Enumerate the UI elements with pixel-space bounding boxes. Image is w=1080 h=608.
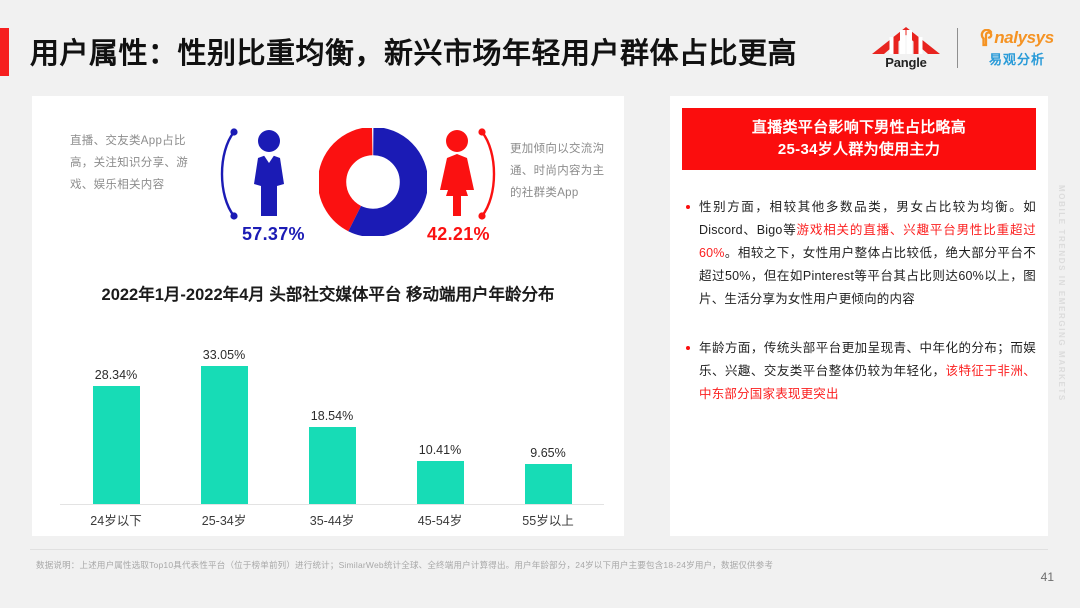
donut-female-slice bbox=[332, 141, 414, 223]
insight-bullet-text: 年龄方面，传统头部平台更加呈现青、中年化的分布；而娱乐、兴趣、交友类平台整体仍较… bbox=[699, 337, 1036, 406]
insight-bullet-list: 性别方面，相较其他多数品类，男女占比较为均衡。如Discord、Bigo等游戏相… bbox=[684, 196, 1036, 432]
bar-category-label: 24岁以下 bbox=[64, 510, 168, 529]
bar-category-label: 25-34岁 bbox=[172, 510, 276, 529]
female-percentage: 42.21% bbox=[427, 224, 490, 245]
plain-phrase: 。相较之下，女性用户整体占比较低，绝大部分平台不超过50%，但在如Pintere… bbox=[699, 246, 1036, 306]
insight-header-banner: 直播类平台影响下男性占比略高 25-34岁人群为使用主力 bbox=[682, 108, 1036, 170]
bar-value-label: 9.65% bbox=[530, 446, 565, 460]
left-content-card: 直播、交友类App占比高，关注知识分享、游戏、娱乐相关内容 bbox=[32, 96, 624, 536]
logo-group: Pangle nalysys 易观分析 bbox=[869, 26, 1062, 70]
insight-bullet-text: 性别方面，相较其他多数品类，男女占比较为均衡。如Discord、Bigo等游戏相… bbox=[699, 196, 1036, 311]
bar-chart-category-labels: 24岁以下25-34岁35-44岁45-54岁55岁以上 bbox=[62, 510, 602, 529]
logo-divider bbox=[957, 28, 958, 68]
analysys-logo: nalysys 易观分析 bbox=[972, 28, 1062, 68]
male-person-icon bbox=[246, 128, 292, 218]
bar-category-label: 45-54岁 bbox=[388, 510, 492, 529]
bar-value-label: 28.34% bbox=[95, 368, 137, 382]
gender-split-figure: 直播、交友类App占比高，关注知识分享、游戏、娱乐相关内容 bbox=[32, 96, 624, 266]
slide-header: 用户属性：性别比重均衡，新兴市场年轻用户群体占比更高 Pangle bbox=[0, 22, 1080, 82]
bar-chart-title: 2022年1月-2022年4月 头部社交媒体平台 移动端用户年龄分布 bbox=[102, 281, 555, 305]
insight-header-line2: 25-34岁人群为使用主力 bbox=[778, 139, 940, 161]
age-distribution-bar-chart: 28.34%33.05%18.54%10.41%9.65% bbox=[62, 324, 602, 504]
bar-column: 9.65% bbox=[496, 324, 600, 504]
bar-value-label: 10.41% bbox=[419, 443, 461, 457]
footer-divider bbox=[30, 549, 1048, 550]
right-insight-card: 直播类平台影响下男性占比略高 25-34岁人群为使用主力 性别方面，相较其他多数… bbox=[670, 96, 1048, 536]
analysys-wordmark-en: nalysys bbox=[980, 28, 1054, 48]
analysys-cn-text: 易观分析 bbox=[989, 49, 1045, 68]
left-bracket-icon bbox=[208, 126, 242, 222]
bar-category-label: 35-44岁 bbox=[280, 510, 384, 529]
page-title: 用户属性：性别比重均衡，新兴市场年轻用户群体占比更高 bbox=[30, 30, 797, 72]
bar-value-label: 18.54% bbox=[311, 409, 353, 423]
insight-bullet: 年龄方面，传统头部平台更加呈现青、中年化的分布；而娱乐、兴趣、交友类平台整体仍较… bbox=[684, 337, 1036, 406]
male-trait-note: 直播、交友类App占比高，关注知识分享、游戏、娱乐相关内容 bbox=[70, 130, 202, 196]
bar bbox=[417, 461, 464, 504]
bar bbox=[93, 386, 140, 504]
pangle-logo: Pangle bbox=[869, 26, 943, 70]
insight-bullet: 性别方面，相较其他多数品类，男女占比较为均衡。如Discord、Bigo等游戏相… bbox=[684, 196, 1036, 311]
bar-category-label: 55岁以上 bbox=[496, 510, 600, 529]
bar bbox=[201, 366, 248, 504]
female-trait-note: 更加倾向以交流沟通、时尚内容为主的社群类App bbox=[510, 138, 614, 204]
header-accent-bar bbox=[0, 28, 9, 76]
analysys-swirl-icon bbox=[980, 29, 994, 47]
footer-data-note: 数据说明：上述用户属性选取Top10具代表性平台（位于榜单前列）进行统计；Sim… bbox=[36, 558, 976, 572]
gender-donut-chart bbox=[319, 128, 427, 236]
bar-value-label: 33.05% bbox=[203, 348, 245, 362]
bar bbox=[525, 464, 572, 504]
bar-column: 10.41% bbox=[388, 324, 492, 504]
bar bbox=[309, 427, 356, 504]
bullet-dot-icon bbox=[686, 346, 690, 350]
analysys-en-text: nalysys bbox=[994, 28, 1054, 48]
bullet-dot-icon bbox=[686, 205, 690, 209]
slide-root: 用户属性：性别比重均衡，新兴市场年轻用户群体占比更高 Pangle bbox=[0, 0, 1080, 608]
pangle-wordmark: Pangle bbox=[885, 55, 926, 70]
page-number: 41 bbox=[1041, 570, 1054, 584]
insight-header-line1: 直播类平台影响下男性占比略高 bbox=[752, 117, 966, 139]
bar-chart-baseline bbox=[60, 504, 604, 505]
male-percentage: 57.37% bbox=[242, 224, 305, 245]
pangle-mark-icon bbox=[870, 26, 942, 56]
bar-column: 28.34% bbox=[64, 324, 168, 504]
side-watermark-text: MOBILE TRENDS IN EMERGING MARKETS bbox=[1057, 185, 1066, 402]
bar-column: 18.54% bbox=[280, 324, 384, 504]
bar-column: 33.05% bbox=[172, 324, 276, 504]
right-bracket-icon bbox=[474, 126, 508, 222]
